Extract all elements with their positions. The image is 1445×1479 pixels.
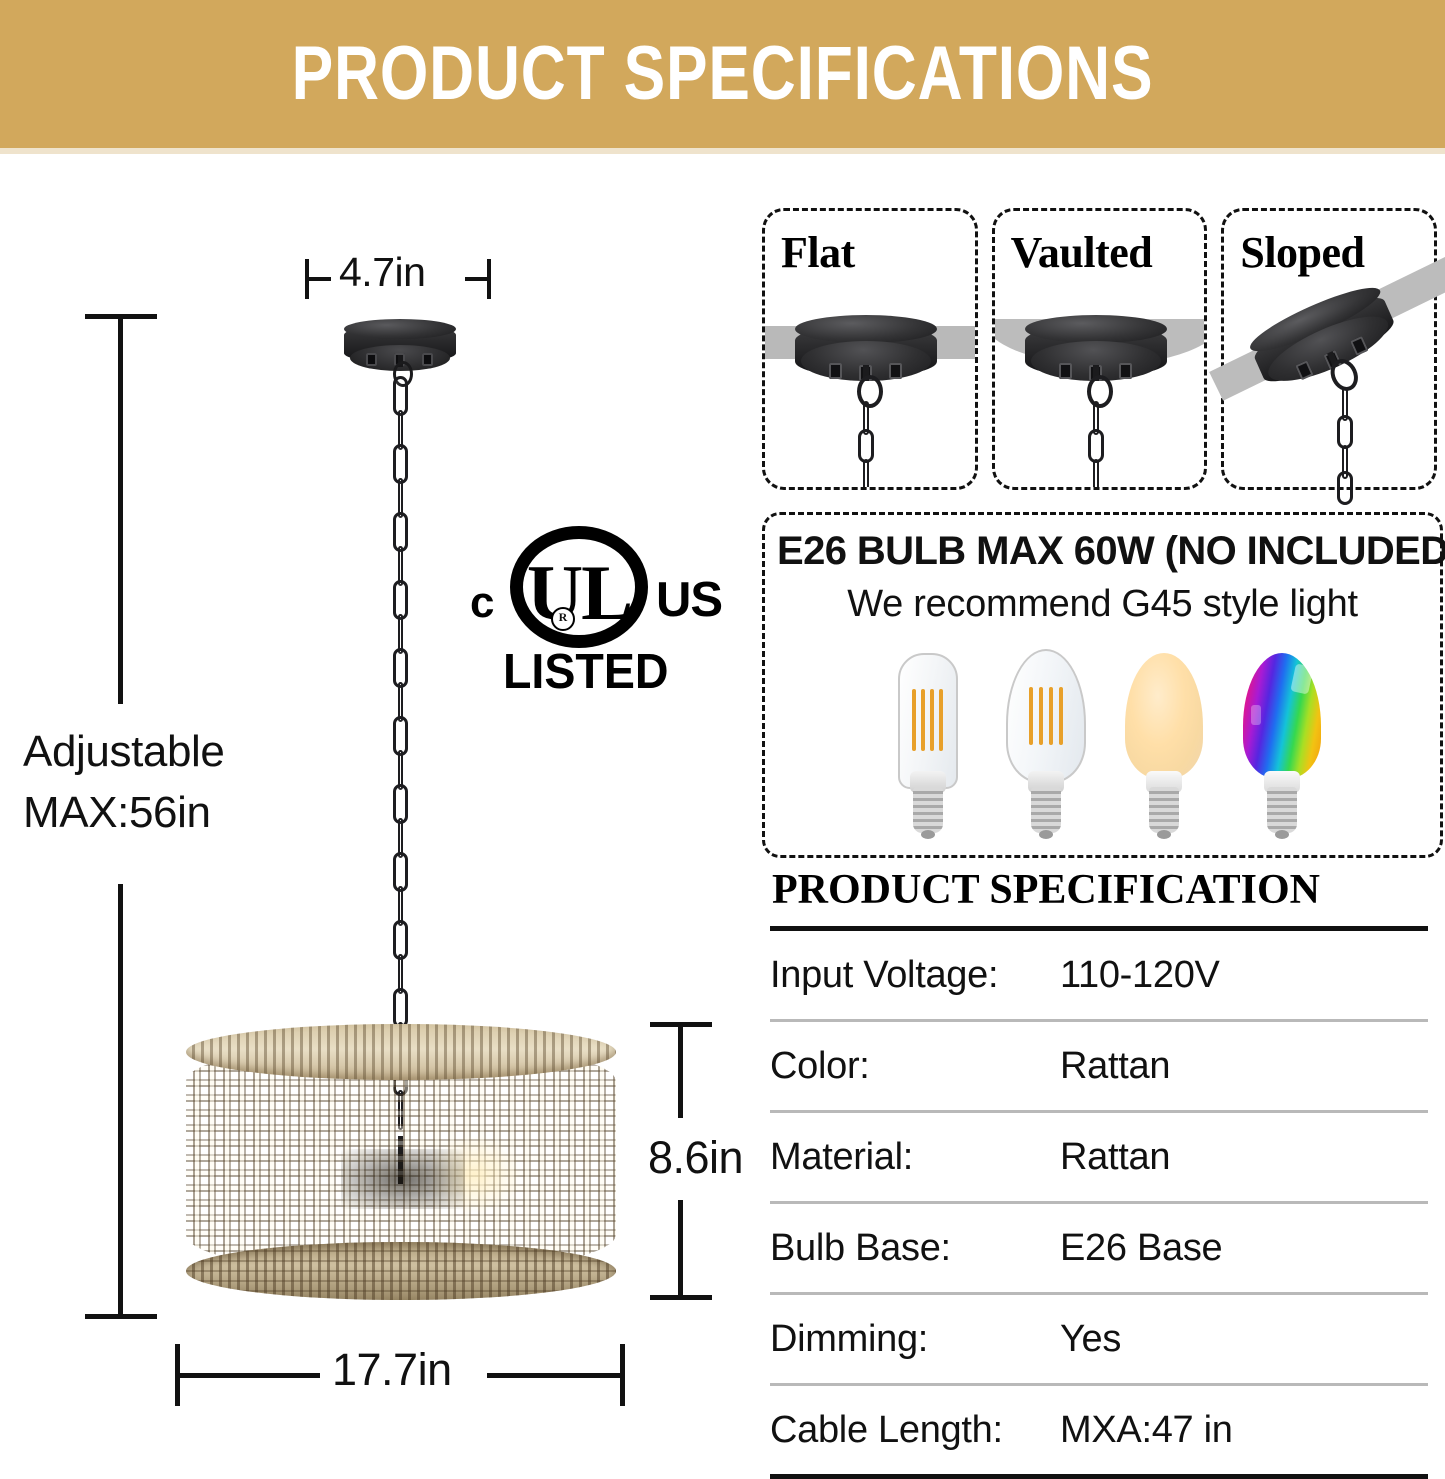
bulb-filament <box>912 689 944 751</box>
canopy-screw-right <box>1119 363 1132 379</box>
spec-key: Material: <box>770 1136 1060 1179</box>
spec-key: Bulb Base: <box>770 1227 1060 1270</box>
ceiling-type-vaulted: Vaulted <box>992 208 1208 490</box>
bulb-recommendation-box: E26 BULB MAX 60W (NO INCLUDED) We recomm… <box>762 512 1443 858</box>
ceiling-type-label: Sloped <box>1240 227 1368 278</box>
spec-value: 110-120V <box>1060 954 1428 997</box>
spec-table-heading: PRODUCT SPECIFICATION <box>772 866 1320 914</box>
ceiling-type-group: Flat <box>762 208 1437 490</box>
ul-letters: UL <box>523 543 635 643</box>
spec-value: MXA:47 in <box>1060 1409 1428 1452</box>
dimension-cap-bottom <box>85 1314 157 1319</box>
bulb-glass <box>1125 653 1203 779</box>
table-row: Dimming: Yes <box>770 1295 1428 1383</box>
rgb-color-bulb-icon <box>1239 647 1325 833</box>
canopy-width-dimension: 4.7in <box>305 249 495 309</box>
chain-illustration <box>858 401 874 481</box>
dimension-line-bottom <box>118 884 123 1319</box>
table-row: Cable Length: MXA:47 in <box>770 1386 1428 1474</box>
chain-link <box>858 429 874 463</box>
ceiling-type-sloped: Sloped <box>1221 208 1437 490</box>
adjustable-height-label: Adjustable MAX:56in <box>23 722 353 843</box>
warm-white-bulb-icon <box>1121 647 1207 833</box>
specifications-panel: Flat <box>752 154 1445 1419</box>
header-banner: PRODUCT SPECIFICATIONS <box>0 0 1445 148</box>
ceiling-canopy <box>330 317 470 377</box>
dimension-line-top <box>118 314 123 704</box>
dimension-line-left <box>175 1373 320 1378</box>
shade-width-dimension: 17.7in <box>175 1336 635 1416</box>
ceiling-type-label: Flat <box>781 227 859 278</box>
ul-circle-icon: UL R <box>510 526 648 648</box>
canopy-top-disc <box>344 319 456 339</box>
ul-listed-text: LISTED <box>503 644 669 700</box>
registered-trademark-icon: R <box>551 607 575 631</box>
spec-value: Rattan <box>1060 1045 1428 1088</box>
spec-key: Input Voltage: <box>770 954 1060 997</box>
canopy-width-label: 4.7in <box>339 249 425 296</box>
table-bottom-rule <box>770 1474 1428 1479</box>
table-row: Material: Rattan <box>770 1113 1428 1201</box>
bulb-box-title: E26 BULB MAX 60W (NO INCLUDED) <box>777 529 1428 574</box>
dimension-cap-bottom <box>650 1295 712 1300</box>
bulb-e26-base <box>913 787 943 833</box>
spec-table: Input Voltage: 110-120V Color: Rattan Ma… <box>770 926 1428 1479</box>
shade-bottom-rim-weave <box>186 1242 616 1300</box>
chain-link <box>1337 415 1353 449</box>
shade-width-label: 17.7in <box>332 1344 452 1396</box>
page-title: PRODUCT SPECIFICATIONS <box>130 36 1315 112</box>
dimension-cap-right <box>487 259 491 299</box>
bulb-e26-base <box>1267 787 1297 833</box>
canopy-illustration <box>795 315 937 401</box>
spec-key: Color: <box>770 1045 1060 1088</box>
spec-key: Cable Length: <box>770 1409 1060 1452</box>
spec-value: Yes <box>1060 1318 1428 1361</box>
ul-suffix-us: US <box>656 572 722 628</box>
bulb-box-subtitle: We recommend G45 style light <box>777 583 1428 626</box>
bulb-e26-base <box>1149 787 1179 833</box>
table-row: Input Voltage: 110-120V <box>770 931 1428 1019</box>
canopy-illustration <box>1025 315 1167 401</box>
bulb-e26-base <box>1031 787 1061 833</box>
canopy-screw-right <box>889 363 902 379</box>
chain-link <box>863 459 869 487</box>
ul-prefix-c: c <box>470 578 494 628</box>
ceiling-type-flat: Flat <box>762 208 978 490</box>
adjustable-label-line2: MAX:56in <box>23 783 353 844</box>
canopy-screw-left <box>366 353 377 366</box>
shade-bottom-rim <box>186 1242 616 1300</box>
bulb-filament <box>1029 687 1063 745</box>
canopy-top-disc <box>795 315 937 343</box>
a-shape-filament-bulb-icon <box>1003 647 1089 833</box>
dimension-line-top <box>678 1022 683 1118</box>
adjustable-label-line1: Adjustable <box>23 722 353 783</box>
dimension-line-right <box>487 1373 625 1378</box>
dimension-tick-left <box>305 277 331 281</box>
canopy-screw-left <box>829 363 842 379</box>
bulb-glass <box>1243 653 1321 779</box>
tubular-filament-bulb-icon <box>885 647 971 833</box>
rattan-drum-shade <box>186 1024 616 1314</box>
chain-illustration <box>1088 401 1104 481</box>
shade-height-label: 8.6in <box>648 1132 743 1184</box>
canopy-top-disc <box>1025 315 1167 343</box>
chain-link <box>1088 429 1104 463</box>
table-row: Color: Rattan <box>770 1022 1428 1110</box>
chain-link <box>1337 471 1353 505</box>
shade-top-rim-weave <box>186 1024 616 1080</box>
product-specification-section: PRODUCT SPECIFICATION Input Voltage: 110… <box>766 866 1434 1406</box>
spec-key: Dimming: <box>770 1318 1060 1361</box>
dimension-cap-right <box>620 1344 625 1406</box>
canopy-screw-left <box>1059 363 1072 379</box>
shade-inner-shadow <box>341 1149 466 1209</box>
ceiling-type-label: Vaulted <box>1011 227 1157 278</box>
canopy-screw-right <box>422 353 433 366</box>
table-row: Bulb Base: E26 Base <box>770 1204 1428 1292</box>
product-diagram-panel: 4.7in <box>0 154 752 1419</box>
chain-illustration <box>1337 387 1353 483</box>
dimension-line-bottom <box>678 1200 683 1300</box>
shade-top-rim <box>186 1024 616 1080</box>
ul-listed-certification-mark: c UL R US LISTED <box>470 526 720 701</box>
spec-value: Rattan <box>1060 1136 1428 1179</box>
spec-value: E26 Base <box>1060 1227 1428 1270</box>
chain-link <box>1093 459 1099 487</box>
bulb-gallery <box>885 643 1325 833</box>
